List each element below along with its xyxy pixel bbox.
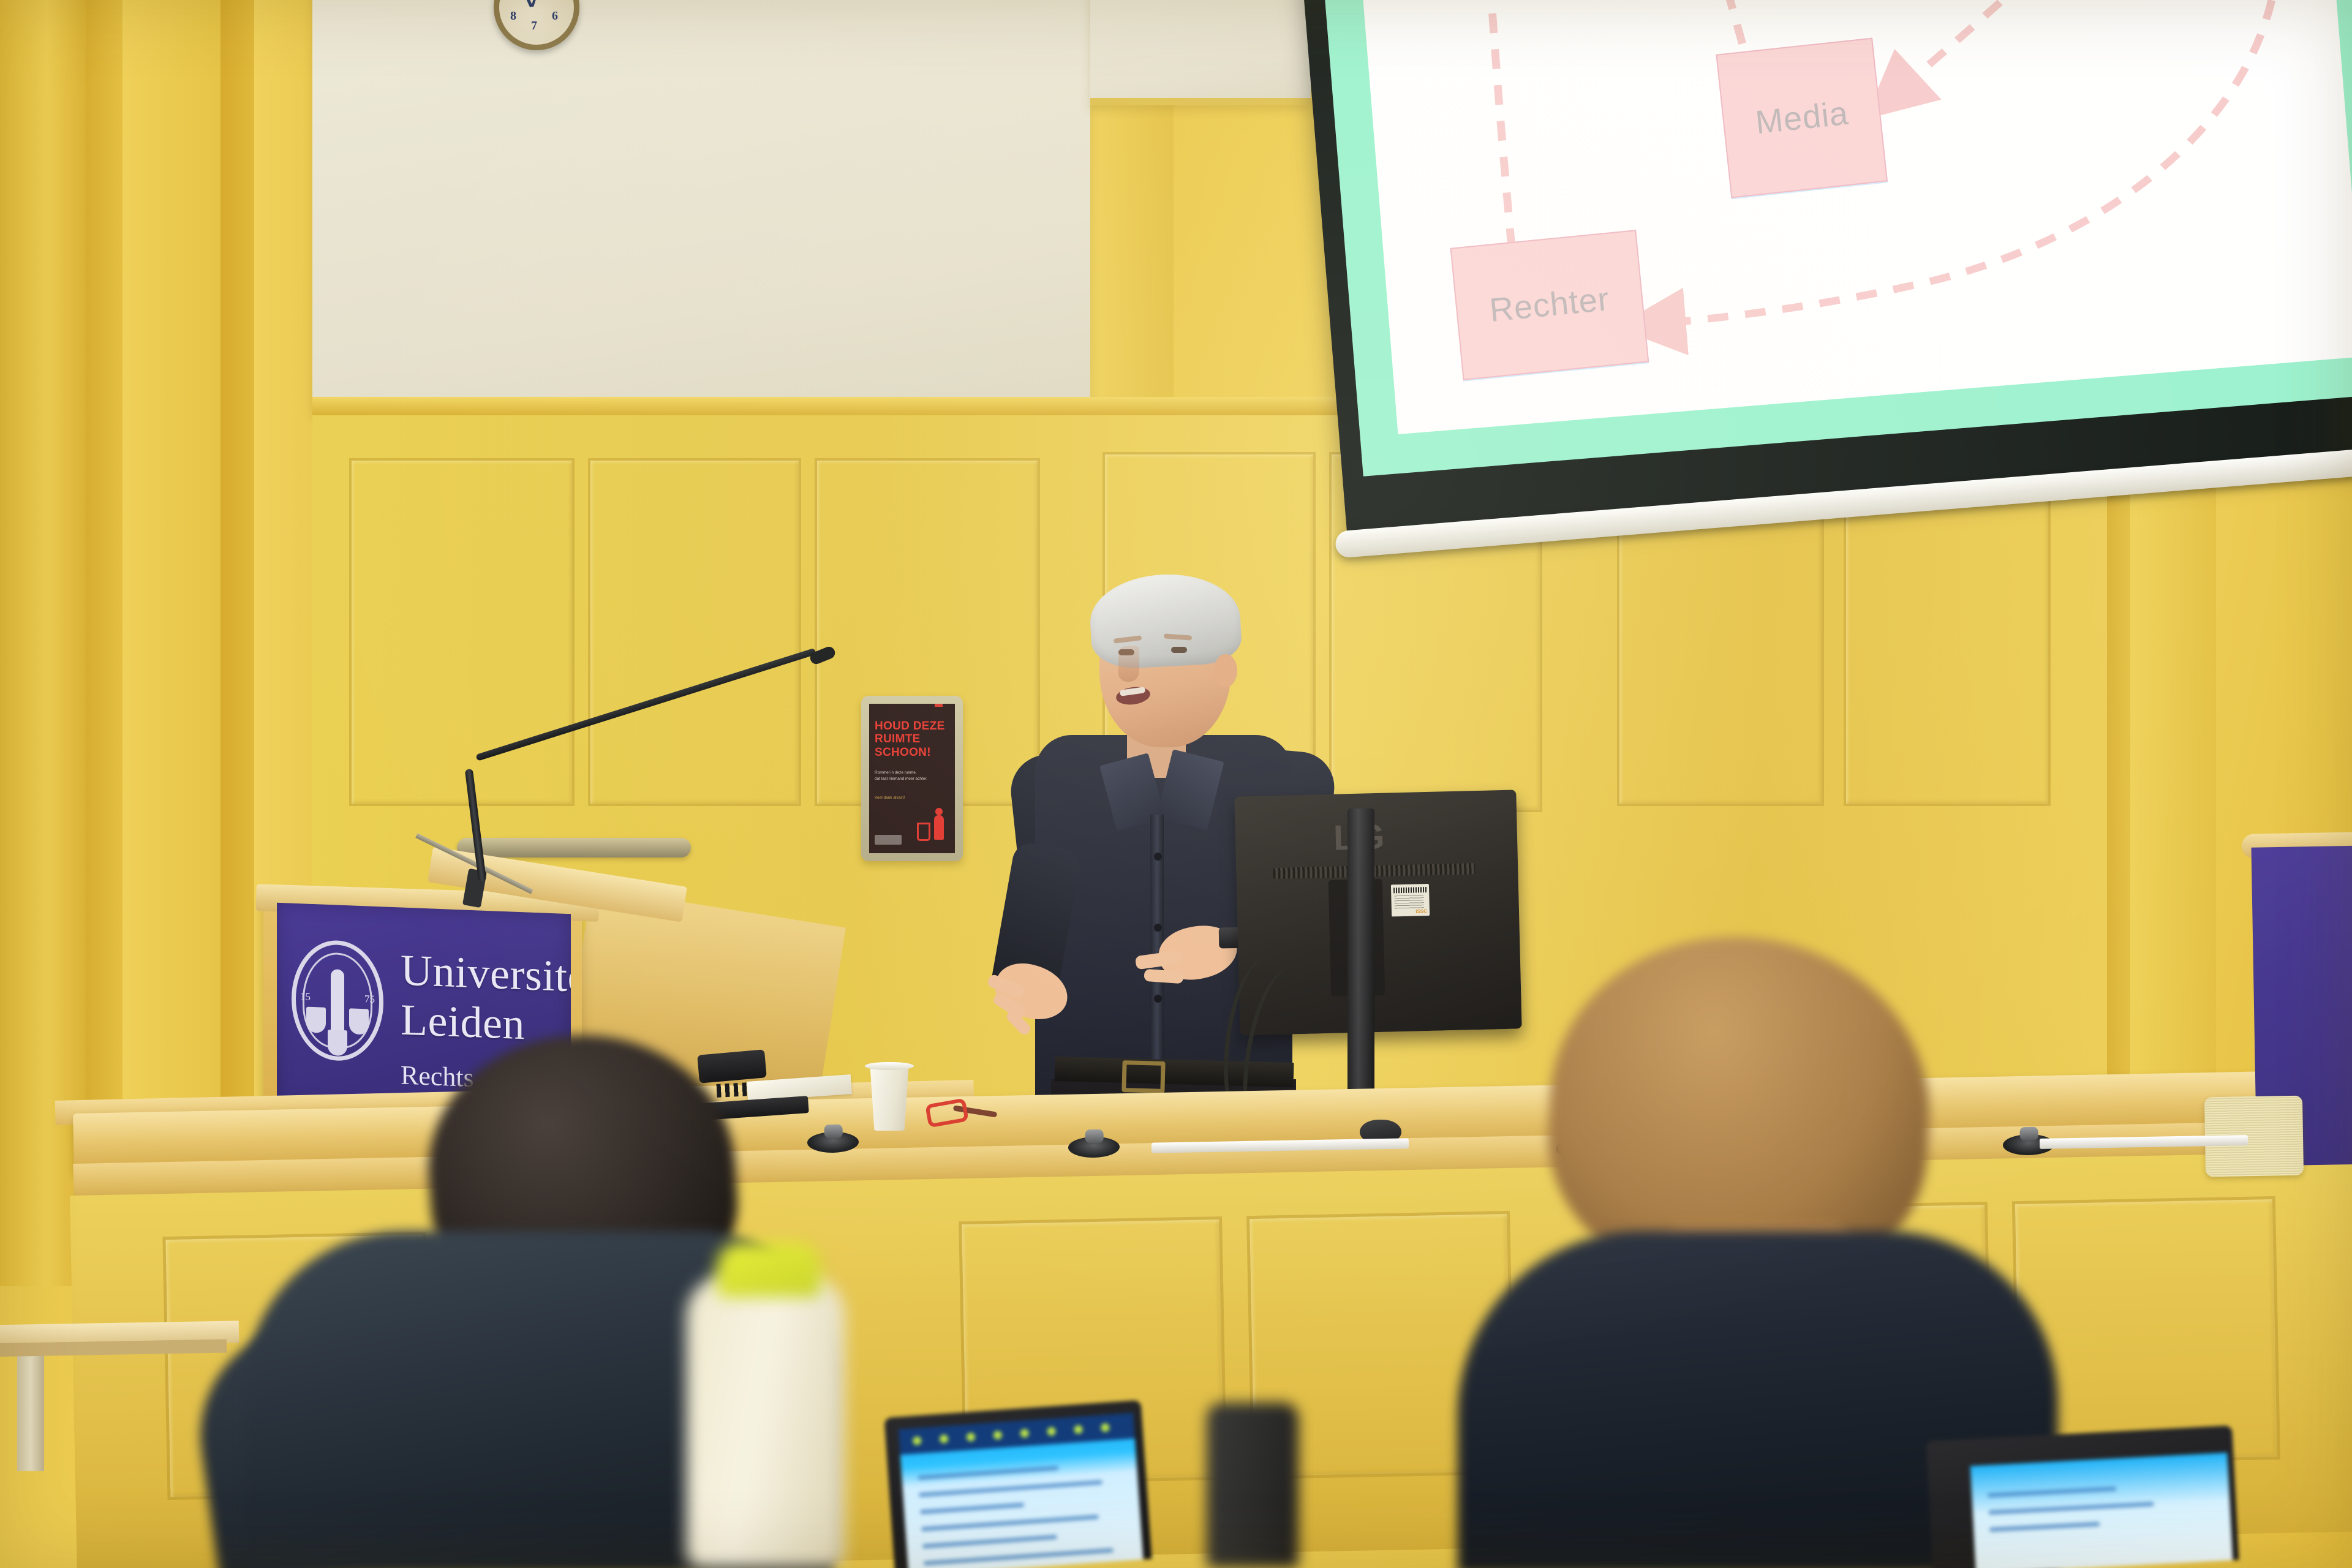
poster-body-text: Rommel in deze ruimte, dat laat niemand … xyxy=(875,770,938,782)
wall-panel-frame xyxy=(588,458,801,806)
dark-bottle[interactable] xyxy=(1207,1403,1298,1568)
belt-buckle xyxy=(1121,1060,1165,1093)
cup-rim xyxy=(865,1062,914,1070)
upper-wall-panel xyxy=(1090,0,1311,105)
trash-bin-icon xyxy=(917,823,930,841)
side-table-leg xyxy=(17,1355,44,1471)
wall-panel-frame xyxy=(349,458,575,806)
grommet-cap xyxy=(2019,1127,2038,1141)
seal-year-right: 75 xyxy=(364,993,375,1006)
laptop-left[interactable] xyxy=(884,1400,1151,1568)
poster-thanks-text: Veel dank alvast! xyxy=(875,796,905,800)
clock-numeral: 7 xyxy=(531,19,537,33)
wall-pilaster xyxy=(86,0,123,1286)
clock-hand-minute xyxy=(531,0,543,7)
slide-box-rechter: Rechter xyxy=(1450,230,1649,380)
water-bottle-cap[interactable] xyxy=(717,1242,821,1297)
slide-canvas: Media Rechter Society xyxy=(1311,0,2352,477)
arrow-society-to-rechter xyxy=(1605,0,2306,325)
arrow-top-to-rechter xyxy=(1477,0,1518,274)
arrow-society-to-media xyxy=(1864,0,2179,104)
lectern-sign-title: Universiteit Leiden xyxy=(401,946,571,1053)
slide-box-media: Media xyxy=(1716,38,1888,198)
shirt-button xyxy=(1154,853,1162,861)
water-bottle[interactable] xyxy=(686,1274,845,1568)
upper-wall-panel xyxy=(312,0,1090,413)
barcode-icon xyxy=(1393,887,1427,893)
poster-accent-mark xyxy=(935,704,943,707)
monitor-asset-label: iSSC xyxy=(1391,884,1430,916)
laptop-left-screen[interactable] xyxy=(899,1413,1144,1568)
person-throwing-trash-icon xyxy=(935,808,943,815)
leiden-seal-icon: 15 75 xyxy=(292,939,383,1063)
clock-numeral: 6 xyxy=(552,9,558,23)
asset-label-org: iSSC xyxy=(1415,908,1427,914)
poster-logo xyxy=(875,835,902,845)
speaker-nose xyxy=(1118,646,1139,682)
person-throwing-trash-icon xyxy=(934,815,944,840)
projection-screen: Media Rechter Society xyxy=(1289,0,2352,537)
shirt-button xyxy=(1154,995,1162,1003)
clock-numeral: 8 xyxy=(510,9,516,23)
laptop-right-screen[interactable] xyxy=(1970,1453,2233,1568)
slide-content-area: Media Rechter Society xyxy=(1351,0,2352,434)
desk-phone[interactable] xyxy=(697,1049,767,1083)
laptop-browser-tabbar xyxy=(899,1413,1135,1455)
lecture-hall-photo: 8 7 6 xyxy=(0,0,2352,1568)
poster-body: HOUD DEZE RUIMTE SCHOON! Rommel in deze … xyxy=(869,704,955,853)
speaker-eye xyxy=(1171,647,1187,653)
laptop-right[interactable] xyxy=(1926,1425,2239,1568)
asset-label-text-lines xyxy=(1394,895,1424,909)
wall-poster: HOUD DEZE RUIMTE SCHOON! Rommel in deze … xyxy=(861,696,963,861)
seal-year-left: 15 xyxy=(300,990,311,1003)
shirt-button xyxy=(1154,924,1162,932)
paper-coffee-cup[interactable] xyxy=(867,1065,911,1131)
wall-mounted-rod xyxy=(457,838,691,858)
grommet-cap xyxy=(1085,1129,1103,1144)
grommet-cap xyxy=(824,1125,842,1139)
speaker-ear xyxy=(1214,654,1237,687)
wall-pilaster xyxy=(0,0,86,1286)
poster-title: HOUD DEZE RUIMTE SCHOON! xyxy=(875,720,951,759)
